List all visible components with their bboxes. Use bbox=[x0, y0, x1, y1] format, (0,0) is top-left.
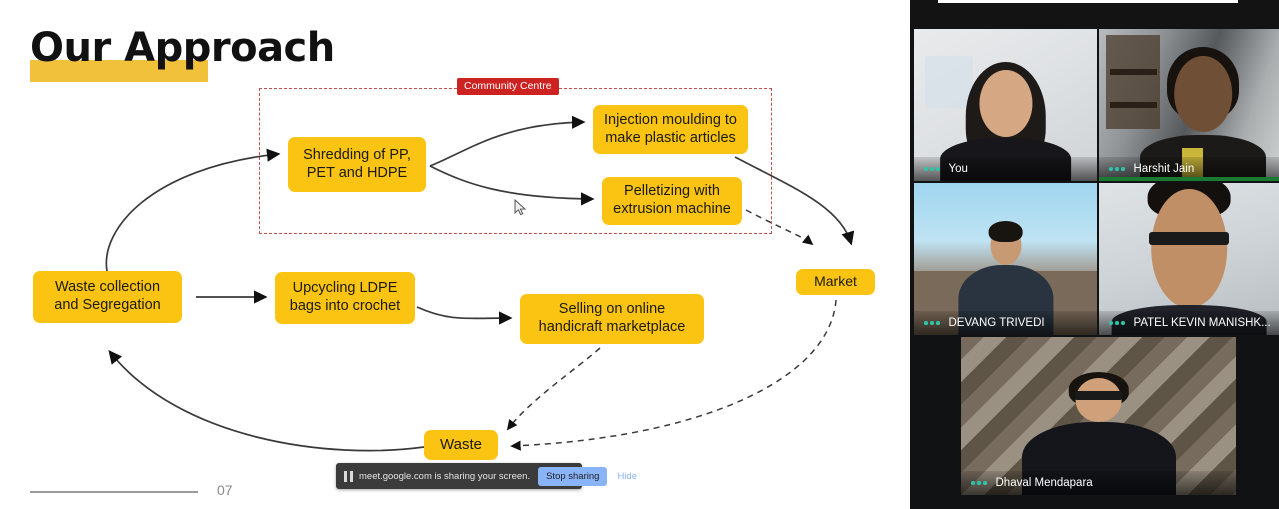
node-upcycling[interactable]: Upcycling LDPE bags into crochet bbox=[275, 272, 415, 324]
participant-tile[interactable]: Harshit Jain bbox=[1099, 29, 1279, 181]
pause-icon[interactable] bbox=[344, 471, 353, 482]
panel-header-bar bbox=[938, 0, 1238, 3]
participant-name: PATEL KEVIN MANISHK... bbox=[1134, 317, 1271, 329]
page-number: 07 bbox=[217, 482, 233, 498]
node-market[interactable]: Market bbox=[796, 269, 875, 295]
more-options-icon[interactable] bbox=[924, 167, 940, 171]
share-message: meet.google.com is sharing your screen. bbox=[359, 471, 530, 482]
mouse-cursor bbox=[514, 199, 528, 217]
more-options-icon[interactable] bbox=[1109, 321, 1125, 325]
screen-share-bar: meet.google.com is sharing your screen. … bbox=[336, 463, 582, 489]
node-injection-moulding[interactable]: Injection moulding to make plastic artic… bbox=[593, 105, 748, 154]
node-shredding[interactable]: Shredding of PP, PET and HDPE bbox=[288, 137, 426, 192]
more-options-icon[interactable] bbox=[1109, 167, 1125, 171]
more-options-icon[interactable] bbox=[924, 321, 940, 325]
shared-slide: Our Approach Community Centre bbox=[0, 0, 910, 509]
participant-namebar: You bbox=[914, 157, 1097, 181]
stop-sharing-button[interactable]: Stop sharing bbox=[538, 467, 607, 486]
node-selling-online[interactable]: Selling on online handicraft marketplace bbox=[520, 294, 704, 344]
speaking-indicator bbox=[1099, 177, 1279, 181]
participant-namebar: DEVANG TRIVEDI bbox=[914, 311, 1097, 335]
participant-name: DEVANG TRIVEDI bbox=[949, 317, 1045, 329]
participant-tile[interactable]: PATEL KEVIN MANISHK... bbox=[1099, 183, 1279, 335]
node-waste[interactable]: Waste bbox=[424, 430, 498, 460]
node-pelletizing[interactable]: Pelletizing with extrusion machine bbox=[602, 177, 742, 225]
screen: Our Approach Community Centre bbox=[0, 0, 1279, 509]
participant-name: You bbox=[949, 163, 968, 175]
participant-namebar: PATEL KEVIN MANISHK... bbox=[1099, 311, 1279, 335]
participant-tile[interactable]: DEVANG TRIVEDI bbox=[914, 183, 1097, 335]
node-waste-collection[interactable]: Waste collection and Segregation bbox=[33, 271, 182, 323]
more-options-icon[interactable] bbox=[971, 481, 987, 485]
participant-name: Dhaval Mendapara bbox=[996, 477, 1093, 489]
panel-header bbox=[910, 0, 1279, 28]
participant-namebar: Dhaval Mendapara bbox=[961, 471, 1236, 495]
participant-tile[interactable]: Dhaval Mendapara bbox=[961, 337, 1236, 495]
footer-rule bbox=[30, 491, 198, 493]
hide-button[interactable]: Hide bbox=[617, 471, 637, 482]
participant-name: Harshit Jain bbox=[1134, 163, 1195, 175]
participant-tile[interactable]: You bbox=[914, 29, 1097, 181]
